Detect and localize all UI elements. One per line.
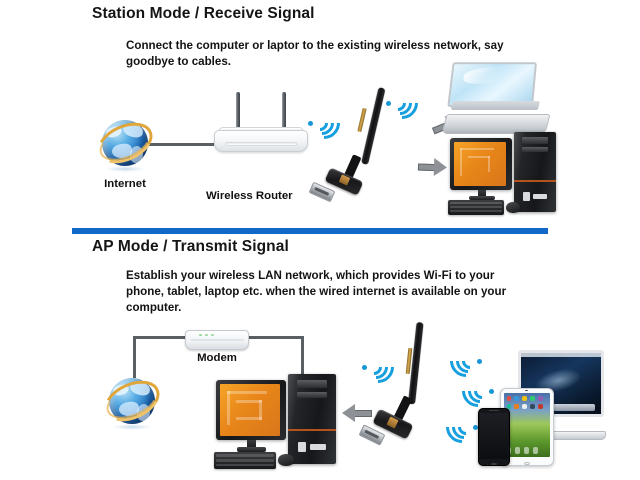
cable-internet-to-router	[148, 143, 214, 146]
tower-accent-stripe	[288, 429, 336, 431]
screen-graphic	[227, 391, 267, 394]
power-button[interactable]	[523, 192, 530, 201]
smartphone-icon	[478, 408, 510, 466]
optical-drive-bay	[522, 137, 548, 144]
wireless-router-icon	[214, 92, 308, 152]
screen-graphic	[488, 156, 490, 172]
globe-shadow	[112, 424, 152, 430]
internet-globe-icon	[103, 374, 161, 432]
cable-modem-to-pc-vertical	[301, 336, 304, 376]
label-internet: Internet	[96, 178, 154, 190]
tablet-camera	[525, 390, 528, 392]
modem-seam	[190, 339, 244, 341]
pc-tower	[514, 132, 556, 212]
laptop-icon	[444, 62, 548, 134]
phone-speaker	[489, 410, 499, 411]
section-divider	[72, 228, 548, 234]
tablet-app-icon[interactable]	[522, 396, 527, 401]
wifi-signal-icon	[464, 376, 494, 408]
diagram-canvas: Station Mode / Receive Signal Connect th…	[0, 0, 640, 480]
desktop-pc-icon	[448, 128, 568, 218]
router-indicator-slot	[225, 142, 296, 146]
globe-shadow	[105, 166, 145, 172]
cable-modem-to-internet-vertical	[133, 336, 136, 378]
screen-graphic	[227, 391, 230, 425]
laptop-screen-glare	[463, 65, 516, 86]
keyboard-row	[450, 206, 502, 208]
usb-wifi-adapter-icon	[360, 322, 444, 452]
screen-graphic	[468, 156, 490, 158]
tablet-app-icon[interactable]	[538, 404, 543, 409]
tablet-app-icon[interactable]	[530, 396, 535, 401]
cable-modem-to-internet-horizontal	[133, 336, 187, 339]
keyboard-row	[450, 210, 502, 212]
monitor-screen	[454, 142, 506, 186]
drive-bay	[522, 147, 548, 152]
front-port	[310, 444, 326, 450]
section-title-ap-mode: AP Mode / Transmit Signal	[92, 238, 289, 256]
keyboard	[448, 200, 504, 215]
section-description-ap-mode: Establish your wireless LAN network, whi…	[126, 268, 516, 316]
keyboard-row	[216, 459, 273, 461]
modem-led	[199, 334, 202, 336]
wifi-signal-icon	[452, 346, 482, 378]
laptop-keyboard	[451, 101, 541, 110]
adapter-usb-contact	[364, 430, 379, 439]
tower-accent-stripe	[514, 180, 556, 182]
adapter-antenna-gold-band	[357, 108, 366, 132]
keyboard-row	[216, 454, 273, 456]
tablet-dock-icon[interactable]	[533, 447, 538, 453]
cable-modem-to-pc-horizontal	[248, 336, 304, 339]
adapter-antenna	[361, 87, 385, 165]
modem-led	[205, 334, 208, 336]
keyboard-row	[216, 464, 273, 466]
tablet-dock-icon[interactable]	[515, 447, 520, 453]
adapter-usb-plug	[309, 182, 336, 203]
adapter-usb-contact	[314, 187, 329, 196]
wifi-signal-icon	[448, 412, 478, 444]
tablet-app-icon[interactable]	[514, 396, 519, 401]
internet-globe-icon	[96, 116, 154, 174]
label-wireless-router: Wireless Router	[206, 190, 293, 202]
tablet-app-icon[interactable]	[530, 404, 535, 409]
section-title-station-mode: Station Mode / Receive Signal	[92, 5, 315, 23]
desktop-pc-icon	[214, 372, 344, 472]
laptop-menubar	[521, 353, 601, 357]
tablet-dock-icon[interactable]	[524, 447, 529, 453]
optical-drive-bay	[297, 380, 327, 388]
monitor-screen	[220, 384, 280, 436]
arrow-head	[434, 158, 448, 176]
router-body	[214, 130, 308, 152]
modem-led	[211, 334, 214, 336]
tablet-screen	[504, 393, 550, 457]
drive-bay	[297, 392, 327, 398]
tablet-app-icon[interactable]	[522, 404, 527, 409]
arrow-icon	[418, 157, 449, 176]
arrow-head	[342, 404, 355, 422]
pc-tower	[288, 374, 336, 464]
screen-graphic	[460, 148, 494, 150]
screen-graphic	[460, 148, 462, 176]
front-port	[533, 194, 547, 199]
modem-icon	[185, 330, 249, 350]
keyboard-row	[450, 202, 502, 204]
label-modem: Modem	[185, 352, 249, 364]
phone-screen	[480, 413, 508, 459]
mouse	[278, 454, 294, 466]
power-button[interactable]	[298, 442, 306, 452]
tablet-app-icon[interactable]	[514, 404, 519, 409]
mouse	[506, 202, 520, 213]
screen-graphic	[236, 417, 262, 420]
tablet-app-icon[interactable]	[507, 396, 512, 401]
usb-wifi-adapter-icon	[308, 86, 392, 214]
tablet-app-icon[interactable]	[538, 396, 543, 401]
keyboard	[214, 452, 276, 469]
